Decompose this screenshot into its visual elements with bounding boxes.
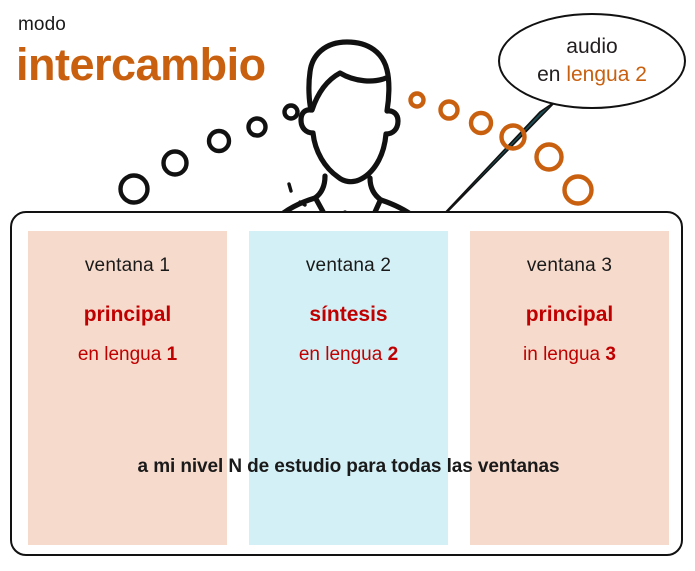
panel-1-lang-prefix: en lengua [78, 344, 161, 365]
panel-ventana-2[interactable]: ventana 2 síntesis en lengua 2 [249, 231, 448, 545]
panel-3-window-label: ventana 3 [470, 255, 669, 277]
panel-ventana-1[interactable]: ventana 1 principal en lengua 1 [28, 231, 227, 545]
left-rising-bubbles-icon [121, 106, 298, 203]
audio-speech-bubble: audio en lengua 2 [498, 13, 686, 109]
panel-2-language-label: en lengua 2 [249, 344, 448, 366]
panel-1-lang-number: 1 [167, 344, 178, 365]
panel-2-lang-prefix: en lengua [299, 344, 382, 365]
panel-ventana-3[interactable]: ventana 3 principal in lengua 3 [470, 231, 669, 545]
panel-3-lang-number: 3 [605, 344, 616, 365]
panel-1-kind-label: principal [28, 303, 227, 327]
windows-card: ventana 1 principal en lengua 1 ventana … [10, 211, 683, 556]
panels-row: ventana 1 principal en lengua 1 ventana … [28, 231, 669, 545]
panel-1-window-label: ventana 1 [28, 255, 227, 277]
right-rising-bubbles-icon [411, 94, 592, 204]
bubble-accent: lengua 2 [566, 63, 647, 86]
bubble-prefix: en [537, 63, 560, 86]
panel-3-language-label: in lengua 3 [470, 344, 669, 366]
card-footer-caption: a mi nivel N de estudio para todas las v… [12, 456, 685, 478]
panel-3-kind-label: principal [470, 303, 669, 327]
panel-2-lang-number: 2 [388, 344, 399, 365]
bubble-line-audio: audio [566, 33, 617, 61]
panel-1-language-label: en lengua 1 [28, 344, 227, 366]
figure-accent-marks [289, 184, 305, 205]
panel-3-lang-prefix: in lengua [523, 344, 600, 365]
panel-2-window-label: ventana 2 [249, 255, 448, 277]
diagram-canvas: modo intercambio [0, 0, 695, 571]
bubble-line-language: en lengua 2 [537, 61, 647, 89]
panel-2-kind-label: síntesis [249, 303, 448, 327]
